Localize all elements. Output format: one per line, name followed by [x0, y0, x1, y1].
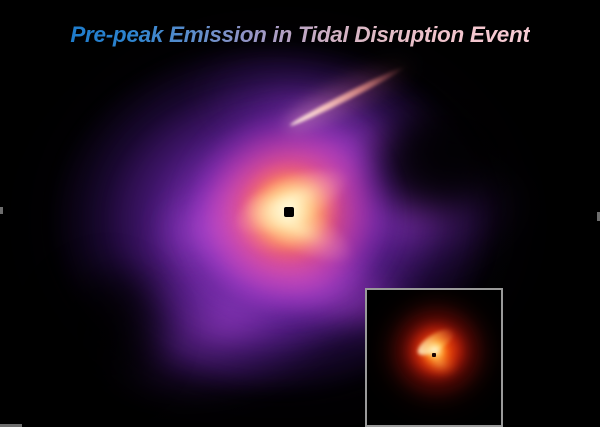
black-hole-marker	[284, 207, 294, 217]
inset-core-layer	[367, 290, 501, 425]
inset-simulation-canvas	[367, 290, 501, 425]
inset-black-hole-marker	[432, 353, 436, 357]
accretion-disk-core-layer	[0, 0, 600, 427]
core-filament-1	[223, 153, 358, 250]
accretion-disk-mid-layer	[0, 0, 600, 427]
dark-void-upper-right	[338, 63, 592, 248]
dark-void-lower-left	[30, 250, 220, 427]
inset-halo-layer	[367, 290, 501, 425]
vignette-layer	[0, 0, 600, 427]
tidal-stream-glow	[279, 46, 426, 141]
inset-filament-2	[415, 341, 463, 384]
spiral-arm-d	[73, 212, 376, 427]
debris-halo-layer	[0, 0, 600, 427]
figure-root: Pre-peak Emission in Tidal Disruption Ev…	[0, 0, 600, 427]
left-edge-tick	[0, 207, 3, 214]
spiral-arm-a	[111, 63, 458, 311]
spiral-arm-f	[292, 135, 538, 296]
tidal-stream	[288, 63, 407, 128]
inset-vignette-layer	[367, 290, 501, 425]
main-simulation-canvas	[0, 0, 600, 427]
core-filament-2	[232, 178, 364, 279]
inset-mid-layer	[367, 290, 501, 425]
spiral-arm-e	[179, 27, 451, 204]
inset-panel	[365, 288, 503, 427]
inset-filament-1	[414, 324, 458, 360]
debris-body-layer	[0, 0, 600, 427]
